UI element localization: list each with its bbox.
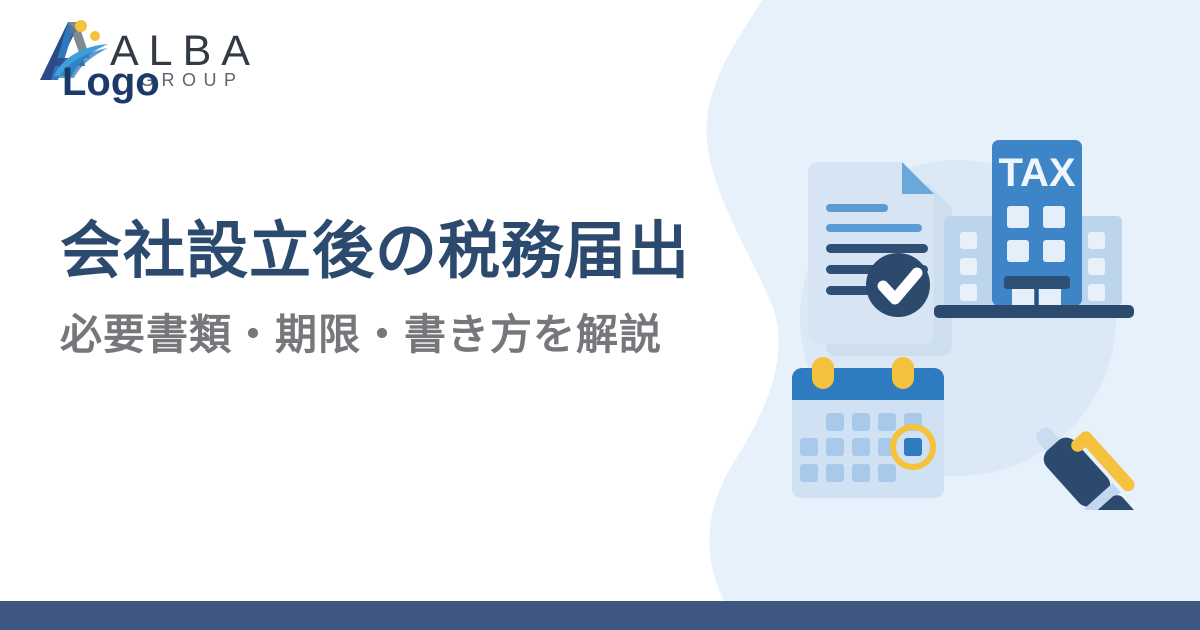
building-awning bbox=[1004, 276, 1070, 289]
page-title: 会社設立後の税務届出 bbox=[60, 215, 740, 288]
check-circle-icon bbox=[866, 253, 930, 317]
headline-block: 会社設立後の税務届出 必要書類・期限・書き方を解説 bbox=[60, 215, 740, 361]
footer-bar bbox=[0, 601, 1200, 630]
tax-filing-illustration: TAX bbox=[770, 110, 1180, 510]
ballpoint-pen-icon bbox=[1025, 406, 1180, 510]
building-base bbox=[934, 305, 1134, 318]
og-image-canvas: ALBA GROUP Logo 会社設立後の税務届出 必要書類・期限・書き方を解… bbox=[0, 0, 1200, 630]
calendar-deadline-icon bbox=[792, 357, 944, 498]
logo-placeholder-text: Logo bbox=[62, 62, 160, 102]
building-tax-label: TAX bbox=[998, 151, 1075, 195]
site-logo[interactable]: ALBA GROUP Logo bbox=[34, 14, 294, 100]
tax-office-building-icon: TAX bbox=[934, 140, 1134, 318]
document-with-check-icon bbox=[808, 162, 934, 344]
page-subtitle: 必要書類・期限・書き方を解説 bbox=[60, 310, 740, 360]
calendar-highlight-cell bbox=[904, 438, 922, 456]
